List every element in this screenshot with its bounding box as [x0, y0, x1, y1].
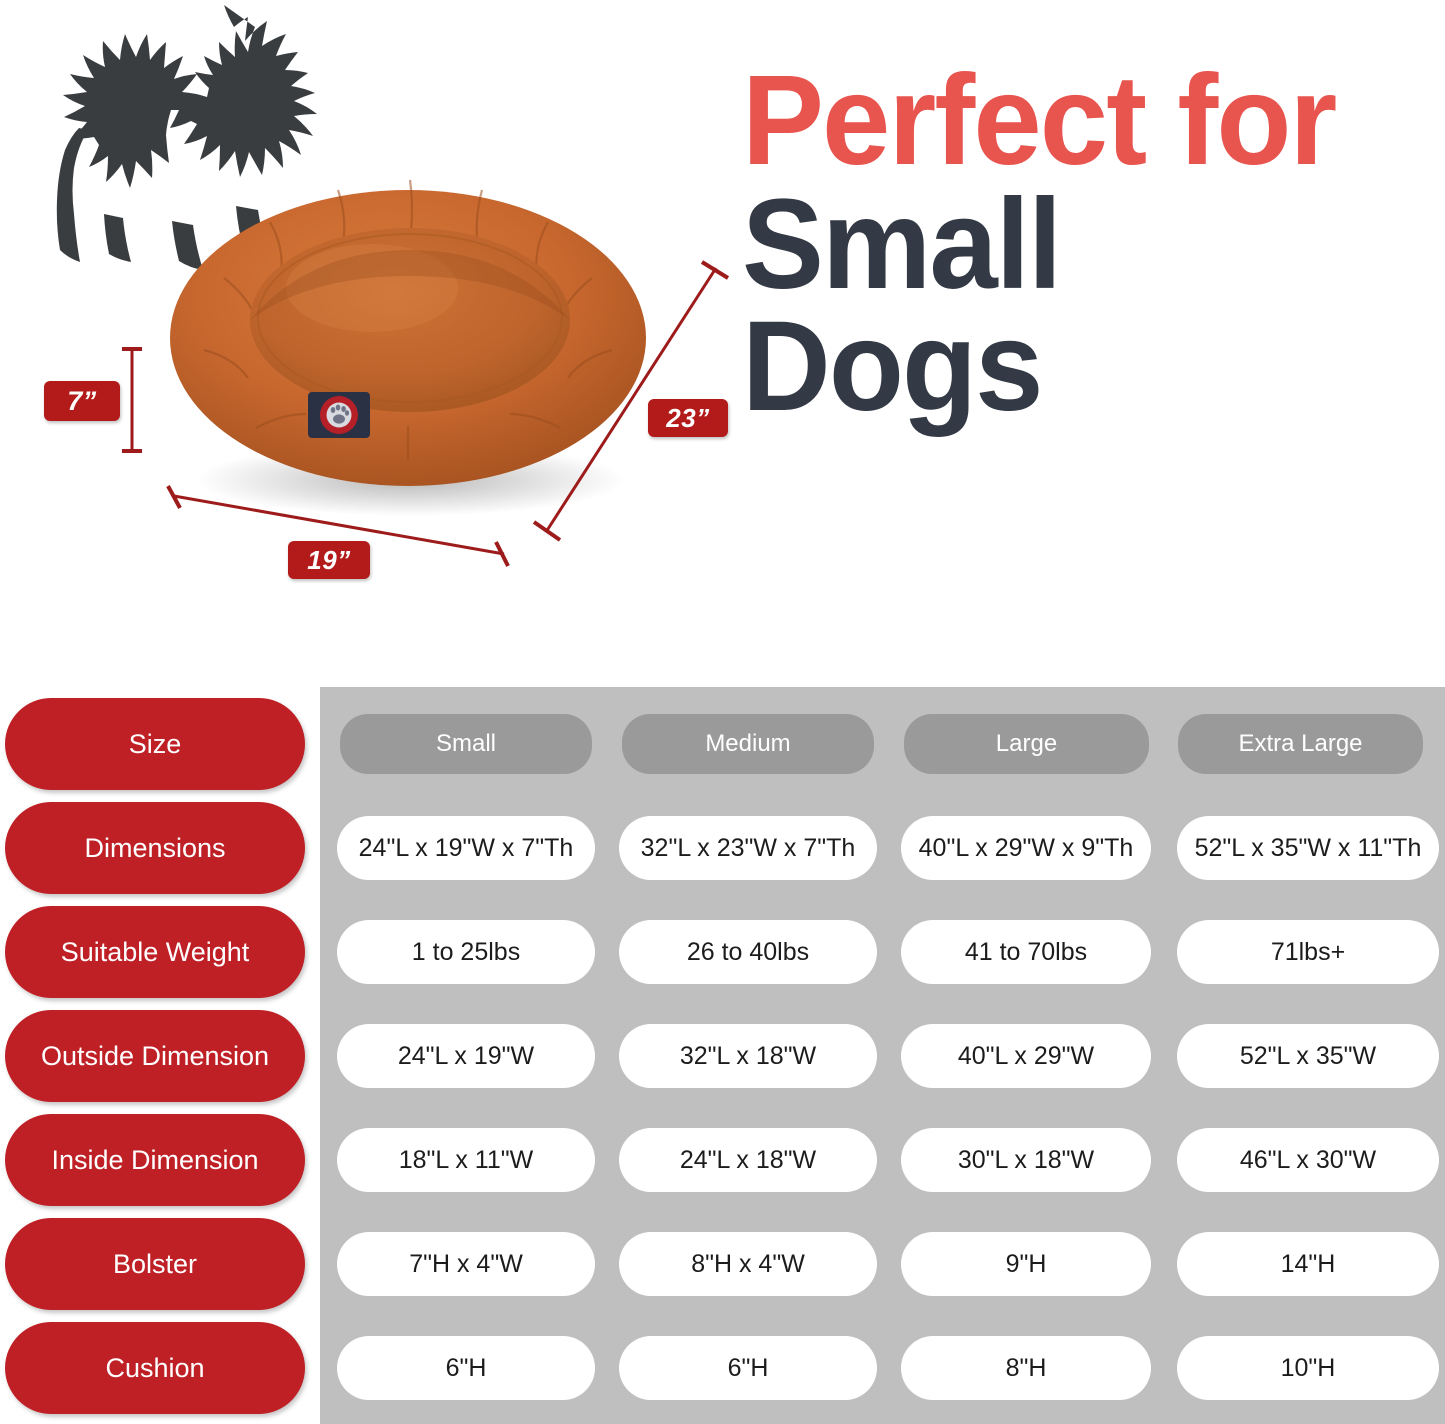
dimension-label-height: 7”: [44, 381, 120, 421]
cell-cushion-medium: 6"H: [619, 1336, 877, 1400]
cell-weight-small: 1 to 25lbs: [337, 920, 595, 984]
row-label-bolster: Bolster: [5, 1218, 305, 1310]
cell-bolster-large: 9"H: [901, 1232, 1151, 1296]
cell-cushion-small: 6"H: [337, 1336, 595, 1400]
cell-weight-large: 41 to 70lbs: [901, 920, 1151, 984]
cell-inside-medium: 24"L x 18"W: [619, 1128, 877, 1192]
cell-weight-xlarge: 71lbs+: [1177, 920, 1439, 984]
row-label-inside-dimension: Inside Dimension: [5, 1114, 305, 1206]
row-label-suitable-weight: Suitable Weight: [5, 906, 305, 998]
headline-line-3: Dogs: [742, 308, 1414, 426]
cell-dimensions-medium: 32"L x 23"W x 7"Th: [619, 816, 877, 880]
cell-outside-small: 24"L x 19"W: [337, 1024, 595, 1088]
column-header-small: Small: [340, 714, 592, 774]
cell-inside-xlarge: 46"L x 30"W: [1177, 1128, 1439, 1192]
dimension-label-width: 19”: [288, 541, 370, 579]
height-dimension-line: [120, 345, 144, 455]
cell-outside-medium: 32"L x 18"W: [619, 1024, 877, 1088]
size-chart: Size Dimensions Suitable Weight Outside …: [0, 687, 1445, 1424]
row-label-outside-dimension: Outside Dimension: [5, 1010, 305, 1102]
infographic-root: 7” 19” 23” Perfect for Small Dogs: [0, 0, 1445, 1424]
cell-dimensions-xlarge: 52"L x 35"W x 11"Th: [1177, 816, 1439, 880]
cell-bolster-medium: 8"H x 4"W: [619, 1232, 877, 1296]
column-header-medium: Medium: [622, 714, 874, 774]
cell-cushion-large: 8"H: [901, 1336, 1151, 1400]
cell-outside-xlarge: 52"L x 35"W: [1177, 1024, 1439, 1088]
dimension-label-length: 23”: [648, 399, 728, 437]
cell-weight-medium: 26 to 40lbs: [619, 920, 877, 984]
headline-line-1: Perfect for: [742, 62, 1414, 180]
cell-outside-large: 40"L x 29"W: [901, 1024, 1151, 1088]
cell-inside-small: 18"L x 11"W: [337, 1128, 595, 1192]
headline-line-2: Small: [742, 186, 1414, 304]
cell-dimensions-large: 40"L x 29"W x 9"Th: [901, 816, 1151, 880]
cell-dimensions-small: 24"L x 19"W x 7"Th: [337, 816, 595, 880]
brand-tag: [308, 392, 370, 438]
column-header-extra-large: Extra Large: [1178, 714, 1423, 774]
headline: Perfect for Small Dogs: [742, 62, 1442, 425]
column-header-large: Large: [904, 714, 1149, 774]
cell-bolster-small: 7"H x 4"W: [337, 1232, 595, 1296]
hero-section: 7” 19” 23” Perfect for Small Dogs: [0, 0, 1445, 660]
row-label-size: Size: [5, 698, 305, 790]
cell-cushion-xlarge: 10"H: [1177, 1336, 1439, 1400]
row-label-cushion: Cushion: [5, 1322, 305, 1414]
row-label-dimensions: Dimensions: [5, 802, 305, 894]
cell-inside-large: 30"L x 18"W: [901, 1128, 1151, 1192]
cell-bolster-xlarge: 14"H: [1177, 1232, 1439, 1296]
